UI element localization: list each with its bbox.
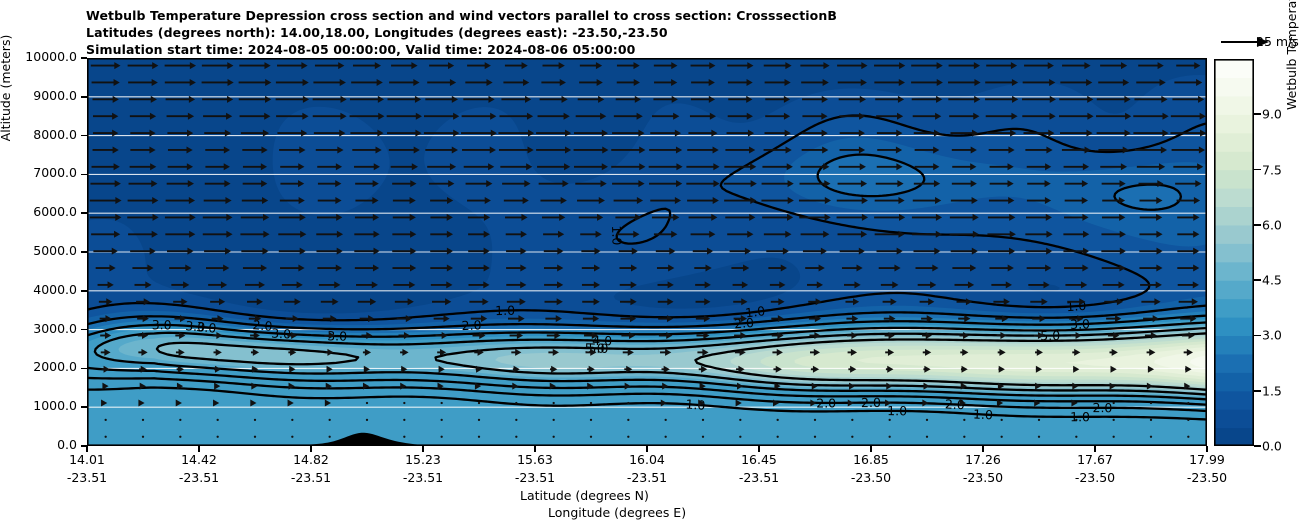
colorbar-tick-mark [1254,335,1261,337]
colorbar-tick-mark [1254,169,1261,171]
wind-vector-dot [217,436,219,438]
contour-label: 2.0 [1093,400,1113,415]
colorbar-swatch [1214,77,1254,96]
x-tick-label-latitude: 14.42 [154,452,244,467]
x-tick-label-longitude: -23.51 [602,470,692,485]
colorbar-tick-label: 9.0 [1262,107,1282,122]
wind-vector-dot [403,419,405,421]
x-tick-label-latitude: 16.45 [714,452,804,467]
wind-vector-dot [553,402,555,404]
wind-vector-dot [254,436,256,438]
contour-label: 1.0 [887,403,907,418]
wind-vector-dot [926,419,928,421]
wind-vector-dot [329,419,331,421]
x-tick-label-latitude: 17.99 [1162,452,1252,467]
y-tick-label: 5000.0 [5,243,77,258]
wind-vector-dot [1113,419,1115,421]
wind-vector-dot [963,436,965,438]
wind-vector-dot [105,419,107,421]
wind-vector-dot [739,419,741,421]
wind-vector-dot [1150,402,1152,404]
y-tick-label: 2000.0 [5,359,77,374]
colorbar-gradient [1214,59,1254,446]
contour-label: 3.0 [271,326,292,342]
wind-vector-dot [478,402,480,404]
contour-label: 2.0 [816,395,836,410]
figure-title-line2: Latitudes (degrees north): 14.00,18.00, … [86,25,668,40]
contour-label: 1.0 [495,303,515,318]
wind-vector-dot [142,436,144,438]
contour-label: 1.0 [685,396,706,412]
x-tick-mark [982,446,984,452]
colorbar-tick-label: 7.5 [1262,162,1282,177]
wind-vector-dot [665,419,667,421]
colorbar-tick-label: 3.0 [1262,328,1282,343]
x-tick-label-latitude: 15.23 [378,452,468,467]
colorbar-label: Wetbulb Temperature Depression °C [1284,0,1299,110]
colorbar-swatch [1214,206,1254,225]
wind-vector-dot [441,419,443,421]
wind-vector-dot [665,436,667,438]
wind-vector-dot [590,419,592,421]
y-tick-mark [81,135,87,137]
x-tick-mark [422,446,424,452]
wind-vector-dot [478,419,480,421]
wind-vector-dot [1038,419,1040,421]
wind-vector-dot [1113,436,1115,438]
x-tick-label-longitude: -23.51 [378,470,468,485]
wind-vector-dot [553,436,555,438]
colorbar-swatch [1214,59,1254,78]
y-axis-label: Altitude (meters) [0,0,13,188]
wind-vector-dot [441,402,443,404]
colorbar [1214,59,1254,446]
y-tick-label: 10000.0 [5,49,77,64]
colorbar-swatch [1214,243,1254,262]
x-tick-mark [646,446,648,452]
wind-vector-dot [1187,402,1189,404]
wind-vector-dot [851,419,853,421]
colorbar-tick-mark [1254,113,1261,115]
wind-vector-dot [590,436,592,438]
wind-vector-dot [1187,419,1189,421]
wind-vector-dot [1150,436,1152,438]
x-tick-label-latitude: 14.01 [42,452,132,467]
y-tick-mark [81,329,87,331]
x-tick-mark [198,446,200,452]
wind-vector-dot [851,436,853,438]
colorbar-swatch [1214,280,1254,299]
wind-vector-dot [739,436,741,438]
colorbar-tick-mark [1254,224,1261,226]
colorbar-swatch [1214,391,1254,410]
colorbar-swatch [1214,188,1254,207]
colorbar-swatch [1214,133,1254,152]
wind-vector-dot [777,419,779,421]
wind-vector-dot [329,436,331,438]
colorbar-swatch [1214,262,1254,281]
x-tick-mark [870,446,872,452]
wind-vector-dot [142,419,144,421]
y-tick-label: 1000.0 [5,398,77,413]
x-tick-label-latitude: 17.26 [938,452,1028,467]
y-tick-mark [81,174,87,176]
x-tick-label-longitude: -23.51 [42,470,132,485]
y-tick-label: 8000.0 [5,127,77,142]
wind-vector-dot [366,402,368,404]
y-tick-label: 3000.0 [5,321,77,336]
x-tick-label-longitude: -23.51 [154,470,244,485]
y-tick-label: 0.0 [5,437,77,452]
wind-vector-dot [702,419,704,421]
colorbar-tick-mark [1254,390,1261,392]
x-tick-label-longitude: -23.50 [1050,470,1140,485]
colorbar-tick-label: 4.5 [1262,273,1282,288]
wind-vector-dot [403,436,405,438]
plot-content: 1.01.01.01.01.01.01.01.02.02.02.02.02.02… [87,58,1207,446]
x-tick-label-longitude: -23.51 [266,470,356,485]
colorbar-tick-mark [1254,445,1261,447]
colorbar-swatch [1214,114,1254,133]
y-tick-mark [81,57,87,59]
x-tick-label-longitude: -23.51 [714,470,804,485]
x-tick-mark [1094,446,1096,452]
contour-label: 1.0 [609,225,625,245]
colorbar-swatch [1214,335,1254,354]
wind-vector-dot [627,436,629,438]
x-tick-label-latitude: 17.67 [1050,452,1140,467]
colorbar-swatch [1214,409,1254,428]
colorbar-swatch [1214,170,1254,189]
colorbar-swatch [1214,372,1254,391]
y-tick-mark [81,212,87,214]
x-tick-label-latitude: 14.82 [266,452,356,467]
wind-vector-dot [889,436,891,438]
wind-vector-dot [627,402,629,404]
wind-vector-dot [1038,436,1040,438]
x-tick-label-longitude: -23.50 [1162,470,1252,485]
contour-label: 1.0 [1070,409,1090,424]
wind-vector-dot [179,419,181,421]
figure-title-line3: Simulation start time: 2024-08-05 00:00:… [86,42,635,57]
colorbar-tick-label: 0.0 [1262,439,1282,454]
colorbar-swatch [1214,299,1254,318]
wind-vector-dot [1075,419,1077,421]
wind-vector-dot [1001,436,1003,438]
wind-vector-dot [403,402,405,404]
wind-vector-dot [515,419,517,421]
contour-label: 3.0 [196,319,217,336]
x-tick-label-longitude: -23.51 [490,470,580,485]
y-tick-label: 6000.0 [5,204,77,219]
wind-vector-dot [1187,436,1189,438]
colorbar-swatch [1214,96,1254,115]
wind-vector-dot [1113,402,1115,404]
wind-vector-dot [926,436,928,438]
contour-label: 2.0 [861,395,881,410]
wind-vector-dot [254,419,256,421]
wind-vector-dot [1001,419,1003,421]
y-tick-label: 9000.0 [5,88,77,103]
x-tick-label-latitude: 15.63 [490,452,580,467]
colorbar-tick-label: 1.5 [1262,383,1282,398]
colorbar-swatch [1214,317,1254,336]
wind-vector-dot [291,419,293,421]
colorbar-tick-label: 6.0 [1262,217,1282,232]
x-tick-mark [534,446,536,452]
wind-vector-dot [478,436,480,438]
x-tick-label-longitude: -23.50 [938,470,1028,485]
wind-vector-dot [963,419,965,421]
contour-label: 2.0 [461,317,482,333]
x-tick-mark [1206,446,1208,452]
y-tick-label: 4000.0 [5,282,77,297]
contour-label: 1.0 [973,406,994,422]
y-tick-label: 7000.0 [5,165,77,180]
colorbar-swatch [1214,225,1254,244]
figure-title-line1: Wetbulb Temperature Depression cross sec… [86,8,837,23]
wind-vector-dot [105,436,107,438]
x-axis-label-longitude: Longitude (degrees E) [548,505,686,520]
wind-vector-dot [291,436,293,438]
x-tick-label-latitude: 16.85 [826,452,916,467]
y-tick-mark [81,251,87,253]
wind-vector-dot [1075,436,1077,438]
wind-vector-dot [814,419,816,421]
figure-root: Wetbulb Temperature Depression cross sec… [0,0,1312,526]
colorbar-swatch [1214,354,1254,373]
y-tick-mark [81,368,87,370]
cross-section-plot: 1.01.01.01.01.01.01.01.02.02.02.02.02.02… [87,58,1207,446]
wind-vector-dot [217,419,219,421]
x-axis-label-latitude: Latitude (degrees N) [520,488,649,503]
wind-vector-dot [553,419,555,421]
y-tick-mark [81,290,87,292]
colorbar-tick-mark [1254,279,1261,281]
wind-vector-dot [515,402,517,404]
colorbar-swatch [1214,428,1254,446]
wind-vector-dot [1150,419,1152,421]
x-tick-mark [86,446,88,452]
colorbar-swatch [1214,151,1254,170]
y-tick-mark [81,406,87,408]
wind-vector-dot [179,436,181,438]
x-tick-mark [758,446,760,452]
wind-vector-dot [702,436,704,438]
wind-vector-dot [814,436,816,438]
wind-reference-vector-label: 25 m/s [1256,34,1299,49]
wind-vector-dot [627,419,629,421]
x-tick-label-longitude: -23.50 [826,470,916,485]
wind-vector-dot [590,402,592,404]
wind-vector-dot [441,436,443,438]
wind-vector-dot [889,419,891,421]
wind-vector-dot [515,436,517,438]
wind-vector-dot [366,419,368,421]
wind-vector-dot [777,436,779,438]
y-tick-mark [81,96,87,98]
x-tick-mark [310,446,312,452]
contour-label: 1.0 [1066,298,1087,314]
plot-area: 1.01.01.01.01.01.01.01.02.02.02.02.02.02… [87,58,1207,446]
contour-label: 3.0 [152,317,172,332]
x-tick-label-latitude: 16.04 [602,452,692,467]
